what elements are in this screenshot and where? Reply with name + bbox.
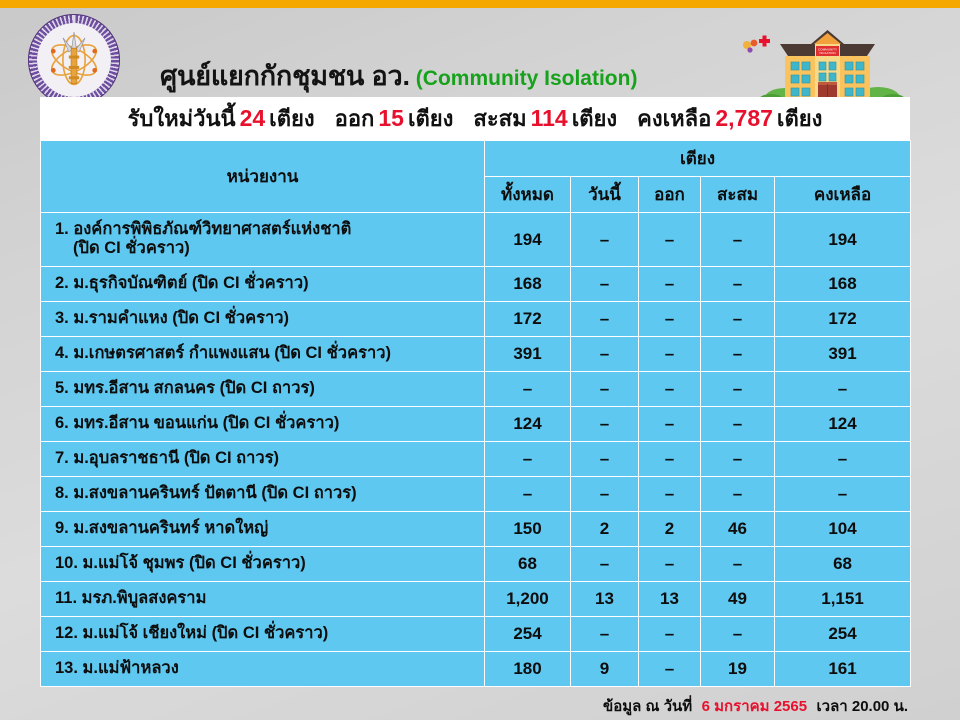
bed-capacity-table-container: หน่วยงาน เตียง ทั้งหมด วันนี้ ออก สะสม ค… — [40, 140, 910, 687]
cell-accumulated: – — [701, 442, 775, 477]
cell-organization: 12. ม.แม่โจ้ เชียงใหม่ (ปิด CI ชั่วคราว) — [41, 617, 485, 652]
summary-new-today-label: รับใหม่วันนี้ — [128, 101, 236, 136]
summary-accumulated-unit: เตียง — [572, 101, 617, 136]
cell-organization: 13. ม.แม่ฟ้าหลวง — [41, 652, 485, 687]
cell-today: – — [571, 337, 639, 372]
bed-capacity-table: หน่วยงาน เตียง ทั้งหมด วันนี้ ออก สะสม ค… — [40, 140, 911, 687]
cell-remaining: 104 — [775, 512, 911, 547]
cell-accumulated: – — [701, 477, 775, 512]
cell-organization: 4. ม.เกษตรศาสตร์ กำแพงแสน (ปิด CI ชั่วคร… — [41, 337, 485, 372]
cell-accumulated: – — [701, 617, 775, 652]
top-accent-bar — [0, 0, 960, 8]
cell-today: – — [571, 477, 639, 512]
organization-name-line: 4. ม.เกษตรศาสตร์ กำแพงแสน (ปิด CI ชั่วคร… — [55, 344, 478, 363]
table-head: หน่วยงาน เตียง ทั้งหมด วันนี้ ออก สะสม ค… — [41, 141, 911, 213]
cell-out: 13 — [639, 582, 701, 617]
cell-out: – — [639, 477, 701, 512]
table-row: 8. ม.สงขลานครินทร์ ปัตตานี (ปิด CI ถาวร)… — [41, 477, 911, 512]
cell-out: – — [639, 372, 701, 407]
cell-accumulated: – — [701, 302, 775, 337]
cell-today: – — [571, 267, 639, 302]
cell-today: – — [571, 442, 639, 477]
cell-remaining: 168 — [775, 267, 911, 302]
page-header: ศูนย์แยกกักชุมชน อว.(Community Isolation… — [0, 8, 960, 97]
summary-remaining-unit: เตียง — [777, 101, 822, 136]
table-row: 3. ม.รามคำแหง (ปิด CI ชั่วคราว)172–––172 — [41, 302, 911, 337]
organization-name-line: 3. ม.รามคำแหง (ปิด CI ชั่วคราว) — [55, 309, 478, 328]
page-title-english: (Community Isolation) — [416, 67, 638, 90]
community-isolation-building-illustration: COMMUNITY ISOLATION — [735, 22, 920, 108]
cell-today: – — [571, 547, 639, 582]
column-header-remaining: คงเหลือ — [775, 177, 911, 213]
cell-remaining: 391 — [775, 337, 911, 372]
cell-organization: 3. ม.รามคำแหง (ปิด CI ชั่วคราว) — [41, 302, 485, 337]
cell-organization: 5. มทร.อีสาน สกลนคร (ปิด CI ถาวร) — [41, 372, 485, 407]
column-header-today: วันนี้ — [571, 177, 639, 213]
cell-today: – — [571, 302, 639, 337]
table-row: 5. มทร.อีสาน สกลนคร (ปิด CI ถาวร)––––– — [41, 372, 911, 407]
organization-name-line: 5. มทร.อีสาน สกลนคร (ปิด CI ถาวร) — [55, 379, 478, 398]
cell-accumulated: – — [701, 547, 775, 582]
cell-out: – — [639, 547, 701, 582]
summary-bar: รับใหม่วันนี้ 24 เตียง ออก 15 เตียง สะสม… — [40, 97, 910, 140]
medical-cross-icon — [743, 36, 770, 53]
column-header-accumulated: สะสม — [701, 177, 775, 213]
cell-today: 9 — [571, 652, 639, 687]
page-title-thai: ศูนย์แยกกักชุมชน อว. — [160, 61, 410, 91]
cell-out: – — [639, 302, 701, 337]
cell-out: – — [639, 652, 701, 687]
cell-total: 150 — [485, 512, 571, 547]
summary-accumulated-label: สะสม — [473, 101, 526, 136]
cell-today: – — [571, 372, 639, 407]
organization-name-line: 12. ม.แม่โจ้ เชียงใหม่ (ปิด CI ชั่วคราว) — [55, 624, 478, 643]
cell-today: 13 — [571, 582, 639, 617]
cell-remaining: 1,151 — [775, 582, 911, 617]
organization-name-line: 13. ม.แม่ฟ้าหลวง — [55, 659, 478, 678]
summary-new-today-unit: เตียง — [269, 101, 314, 136]
cell-out: – — [639, 267, 701, 302]
cell-total: 391 — [485, 337, 571, 372]
table-row: 13. ม.แม่ฟ้าหลวง1809–19161 — [41, 652, 911, 687]
cell-today: – — [571, 213, 639, 267]
cell-total: 168 — [485, 267, 571, 302]
cell-out: 2 — [639, 512, 701, 547]
cell-organization: 1. องค์การพิพิธภัณฑ์วิทยาศาสตร์แห่งชาติ(… — [41, 213, 485, 267]
cell-remaining: – — [775, 372, 911, 407]
cell-remaining: – — [775, 442, 911, 477]
organization-name-line: 2. ม.ธุรกิจบัณฑิตย์ (ปิด CI ชั่วคราว) — [55, 274, 478, 293]
cell-remaining: 254 — [775, 617, 911, 652]
cell-total: 194 — [485, 213, 571, 267]
cell-accumulated: – — [701, 407, 775, 442]
cell-organization: 9. ม.สงขลานครินทร์ หาดใหญ่ — [41, 512, 485, 547]
cell-remaining: 161 — [775, 652, 911, 687]
ministry-seal-logo — [28, 14, 120, 106]
cell-organization: 6. มทร.อีสาน ขอนแก่น (ปิด CI ชั่วคราว) — [41, 407, 485, 442]
footer-suffix: เวลา 20.00 น. — [817, 698, 908, 715]
column-header-beds-group: เตียง — [485, 141, 911, 177]
table-row: 10. ม.แม่โจ้ ชุมพร (ปิด CI ชั่วคราว)68––… — [41, 547, 911, 582]
cell-remaining: 68 — [775, 547, 911, 582]
table-row: 12. ม.แม่โจ้ เชียงใหม่ (ปิด CI ชั่วคราว)… — [41, 617, 911, 652]
cell-today: 2 — [571, 512, 639, 547]
organization-name-line: 10. ม.แม่โจ้ ชุมพร (ปิด CI ชั่วคราว) — [55, 554, 478, 573]
summary-discharged-label: ออก — [335, 101, 375, 136]
table-row: 7. ม.อุบลราชธานี (ปิด CI ถาวร)––––– — [41, 442, 911, 477]
cell-total: 180 — [485, 652, 571, 687]
cell-total: 124 — [485, 407, 571, 442]
column-header-organization: หน่วยงาน — [41, 141, 485, 213]
organization-name-line: 9. ม.สงขลานครินทร์ หาดใหญ่ — [55, 519, 478, 538]
summary-discharged-value: 15 — [378, 105, 404, 132]
cell-organization: 7. ม.อุบลราชธานี (ปิด CI ถาวร) — [41, 442, 485, 477]
cell-accumulated: 49 — [701, 582, 775, 617]
organization-name-line: 8. ม.สงขลานครินทร์ ปัตตานี (ปิด CI ถาวร) — [55, 484, 478, 503]
table-header-row-1: หน่วยงาน เตียง — [41, 141, 911, 177]
organization-status-line: (ปิด CI ชั่วคราว) — [55, 239, 478, 258]
summary-discharged-unit: เตียง — [408, 101, 453, 136]
cell-accumulated: 46 — [701, 512, 775, 547]
cell-organization: 11. มรภ.พิบูลสงคราม — [41, 582, 485, 617]
cell-remaining: 124 — [775, 407, 911, 442]
table-row: 4. ม.เกษตรศาสตร์ กำแพงแสน (ปิด CI ชั่วคร… — [41, 337, 911, 372]
cell-total: 68 — [485, 547, 571, 582]
cell-total: 254 — [485, 617, 571, 652]
cell-remaining: 194 — [775, 213, 911, 267]
organization-name-line: 1. องค์การพิพิธภัณฑ์วิทยาศาสตร์แห่งชาติ — [55, 220, 478, 239]
table-row: 2. ม.ธุรกิจบัณฑิตย์ (ปิด CI ชั่วคราว)168… — [41, 267, 911, 302]
cell-total: – — [485, 442, 571, 477]
cell-out: – — [639, 407, 701, 442]
logo-ring-text — [28, 14, 120, 106]
cell-remaining: 172 — [775, 302, 911, 337]
organization-name-line: 6. มทร.อีสาน ขอนแก่น (ปิด CI ชั่วคราว) — [55, 414, 478, 433]
cell-accumulated: – — [701, 337, 775, 372]
cell-organization: 8. ม.สงขลานครินทร์ ปัตตานี (ปิด CI ถาวร) — [41, 477, 485, 512]
cell-out: – — [639, 442, 701, 477]
cell-accumulated: 19 — [701, 652, 775, 687]
cell-out: – — [639, 213, 701, 267]
summary-remaining-label: คงเหลือ — [637, 101, 711, 136]
cell-organization: 10. ม.แม่โจ้ ชุมพร (ปิด CI ชั่วคราว) — [41, 547, 485, 582]
footer-date: 6 มกราคม 2565 — [702, 698, 807, 715]
cell-accumulated: – — [701, 213, 775, 267]
cell-accumulated: – — [701, 267, 775, 302]
cell-remaining: – — [775, 477, 911, 512]
cell-accumulated: – — [701, 372, 775, 407]
table-row: 11. มรภ.พิบูลสงคราม1,2001313491,151 — [41, 582, 911, 617]
organization-name-line: 11. มรภ.พิบูลสงคราม — [55, 589, 478, 608]
column-header-total: ทั้งหมด — [485, 177, 571, 213]
table-row: 1. องค์การพิพิธภัณฑ์วิทยาศาสตร์แห่งชาติ(… — [41, 213, 911, 267]
cell-today: – — [571, 407, 639, 442]
cell-organization: 2. ม.ธุรกิจบัณฑิตย์ (ปิด CI ชั่วคราว) — [41, 267, 485, 302]
cell-total: – — [485, 372, 571, 407]
cell-total: 172 — [485, 302, 571, 337]
footer-prefix: ข้อมูล ณ วันที่ — [603, 698, 692, 715]
table-body: 1. องค์การพิพิธภัณฑ์วิทยาศาสตร์แห่งชาติ(… — [41, 213, 911, 687]
organization-name-line: 7. ม.อุบลราชธานี (ปิด CI ถาวร) — [55, 449, 478, 468]
cell-total: – — [485, 477, 571, 512]
svg-text:ISOLATION: ISOLATION — [819, 51, 835, 55]
summary-new-today-value: 24 — [240, 105, 266, 132]
cell-out: – — [639, 617, 701, 652]
cell-total: 1,200 — [485, 582, 571, 617]
column-header-out: ออก — [639, 177, 701, 213]
data-timestamp-footer: ข้อมูล ณ วันที่ 6 มกราคม 2565 เวลา 20.00… — [0, 694, 960, 718]
table-row: 9. ม.สงขลานครินทร์ หาดใหญ่1502246104 — [41, 512, 911, 547]
table-row: 6. มทร.อีสาน ขอนแก่น (ปิด CI ชั่วคราว)12… — [41, 407, 911, 442]
summary-accumulated-value: 114 — [531, 105, 568, 132]
cell-today: – — [571, 617, 639, 652]
summary-remaining-value: 2,787 — [715, 105, 773, 132]
page-title: ศูนย์แยกกักชุมชน อว.(Community Isolation… — [160, 54, 637, 97]
cell-out: – — [639, 337, 701, 372]
